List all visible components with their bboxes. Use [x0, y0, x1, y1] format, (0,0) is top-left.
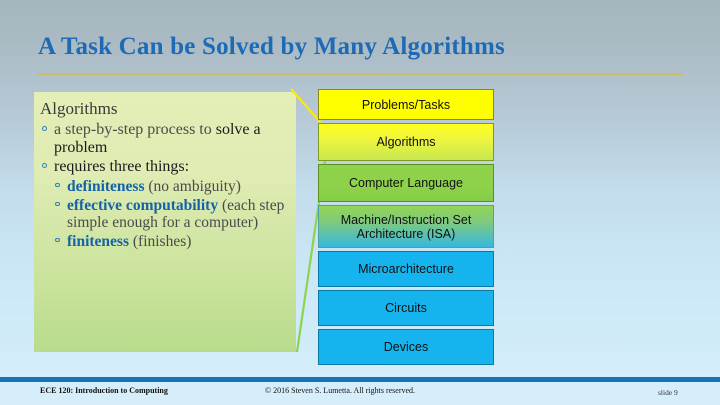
bullet-icon	[55, 238, 60, 243]
abstraction-layer-stack: Problems/Tasks Algorithms Computer Langu…	[318, 89, 494, 368]
bullet-icon	[42, 126, 47, 131]
list-item-keyword: effective computability	[67, 197, 218, 214]
list-item-text: requires three things:	[54, 158, 189, 175]
footer-accent-bar	[0, 377, 720, 382]
stack-layer-label: Circuits	[385, 301, 427, 315]
stack-layer-label: Machine/Instruction Set Architecture (IS…	[319, 213, 493, 241]
list-item-keyword: definiteness	[67, 178, 145, 195]
stack-layer-algorithms[interactable]: Algorithms	[318, 123, 494, 161]
algorithms-text-panel: Algorithms a step-by-step process to sol…	[34, 92, 296, 352]
stack-layer-isa[interactable]: Machine/Instruction Set Architecture (IS…	[318, 205, 494, 248]
stack-layer-label: Devices	[384, 340, 428, 354]
list-item-text: (finishes)	[129, 233, 191, 250]
stack-layer-microarchitecture[interactable]: Microarchitecture	[318, 251, 494, 287]
bullet-icon	[55, 202, 60, 207]
list-item: effective computability (each step simpl…	[52, 197, 288, 231]
slide-canvas: A Task Can be Solved by Many Algorithms …	[0, 0, 720, 405]
text-panel-heading: Algorithms	[40, 99, 288, 119]
stack-layer-devices[interactable]: Devices	[318, 329, 494, 365]
list-item: finiteness (finishes)	[52, 233, 288, 250]
list-item: definiteness (no ambiguity)	[52, 178, 288, 195]
stack-layer-label: Microarchitecture	[358, 262, 454, 276]
list-item-text: (no ambiguity)	[145, 178, 241, 195]
footer-slide-number: slide 9	[658, 388, 678, 397]
stack-layer-computer-language[interactable]: Computer Language	[318, 164, 494, 202]
list-item: a step-by-step process to solve a proble…	[40, 121, 288, 156]
list-item-text: a step-by-step process to	[54, 121, 216, 138]
slide-footer: ECE 120: Introduction to Computing © 201…	[0, 383, 720, 405]
page-title: A Task Can be Solved by Many Algorithms	[38, 33, 505, 61]
list-item: requires three things:	[40, 158, 288, 176]
stack-layer-label: Problems/Tasks	[362, 98, 450, 112]
title-divider	[37, 73, 683, 75]
stack-layer-label: Algorithms	[376, 135, 435, 149]
footer-copyright: © 2016 Steven S. Lumetta. All rights res…	[265, 386, 415, 395]
stack-layer-problems-tasks[interactable]: Problems/Tasks	[318, 89, 494, 120]
stack-layer-circuits[interactable]: Circuits	[318, 290, 494, 326]
list-item-keyword: finiteness	[67, 233, 129, 250]
stack-layer-label: Computer Language	[349, 176, 463, 190]
bullet-icon	[55, 183, 60, 188]
bullet-icon	[42, 163, 47, 168]
footer-course: ECE 120: Introduction to Computing	[40, 386, 168, 395]
